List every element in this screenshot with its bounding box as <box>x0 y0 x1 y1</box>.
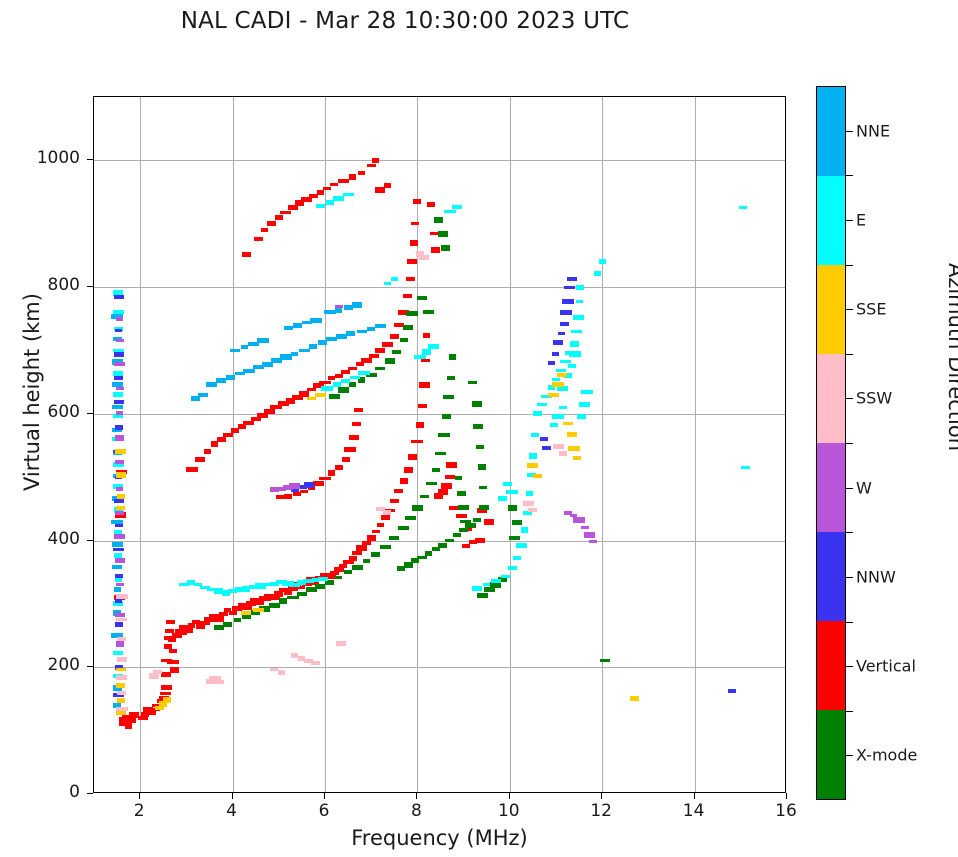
data-point <box>334 567 344 572</box>
data-point <box>211 441 218 447</box>
data-point <box>284 494 292 499</box>
data-point <box>112 405 123 409</box>
y-axis-tick <box>87 666 93 667</box>
data-point <box>508 566 517 570</box>
data-point <box>318 340 327 345</box>
data-point <box>550 423 558 427</box>
data-point <box>567 277 577 281</box>
data-point <box>317 190 324 195</box>
data-point <box>428 344 439 349</box>
data-point <box>445 475 455 479</box>
data-point <box>579 402 590 407</box>
data-point <box>358 371 370 375</box>
data-point <box>526 491 533 496</box>
data-point <box>114 400 124 404</box>
data-point <box>279 598 287 604</box>
data-point <box>548 393 559 397</box>
data-point <box>372 158 379 163</box>
data-point <box>449 354 456 360</box>
data-point <box>469 540 477 544</box>
data-point <box>576 300 583 303</box>
colorbar-tick <box>846 755 853 756</box>
data-point <box>115 435 124 441</box>
data-point <box>391 277 398 281</box>
data-point <box>457 491 466 496</box>
data-point <box>484 519 494 525</box>
data-point <box>383 510 391 515</box>
colorbar-tick <box>846 666 853 667</box>
colorbar-band-sse <box>817 265 845 354</box>
data-point <box>214 625 224 630</box>
data-point <box>375 348 385 353</box>
data-point <box>506 490 518 494</box>
data-point <box>112 565 122 569</box>
data-point <box>169 649 177 653</box>
data-point <box>394 489 403 493</box>
data-point <box>564 286 575 289</box>
data-point <box>346 331 355 336</box>
data-point <box>352 302 362 308</box>
data-point <box>594 271 601 276</box>
data-point <box>307 388 316 391</box>
data-point <box>410 240 418 246</box>
data-point <box>553 340 563 345</box>
data-point <box>267 221 276 226</box>
data-point <box>117 657 127 662</box>
data-point <box>299 391 309 397</box>
data-point <box>186 467 198 472</box>
data-point <box>113 548 124 551</box>
data-point <box>397 566 405 571</box>
data-point <box>367 535 376 541</box>
colorbar-tick <box>846 577 853 578</box>
y-axis-tick-label: 0 <box>20 782 80 802</box>
x-axis-tick <box>509 793 510 799</box>
data-point <box>114 376 123 380</box>
data-point <box>390 334 399 339</box>
x-axis-tick-label: 10 <box>479 801 539 821</box>
data-point <box>553 444 564 449</box>
colorbar-label-w: W <box>856 478 872 497</box>
data-point <box>741 466 750 469</box>
data-point <box>503 482 512 486</box>
data-point <box>287 596 299 599</box>
data-point <box>117 691 126 695</box>
colorbar <box>816 86 846 800</box>
data-point <box>584 532 595 538</box>
data-point <box>406 277 415 281</box>
data-point <box>226 375 235 380</box>
data-point <box>280 211 291 214</box>
data-point <box>204 449 211 454</box>
data-point <box>113 651 123 655</box>
data-point <box>116 339 124 342</box>
data-point <box>569 351 581 357</box>
data-point <box>335 576 342 579</box>
colorbar-band-vertical <box>817 621 845 710</box>
data-point <box>316 204 325 208</box>
data-point <box>405 516 416 520</box>
data-point <box>115 622 123 627</box>
colorbar-band-ssw <box>817 354 845 443</box>
data-point <box>540 437 548 441</box>
data-point <box>441 483 452 489</box>
data-point <box>191 396 200 401</box>
data-point <box>445 539 454 542</box>
data-point <box>421 359 430 362</box>
data-point <box>531 433 539 437</box>
data-point <box>341 379 350 383</box>
data-point <box>375 367 385 370</box>
data-point <box>563 422 573 425</box>
x-axis-label: Frequency (MHz) <box>93 826 786 850</box>
data-point <box>452 205 462 209</box>
data-point <box>113 414 123 418</box>
data-point <box>216 378 226 383</box>
data-point <box>254 237 263 241</box>
data-point <box>398 526 409 530</box>
data-point <box>508 505 517 511</box>
data-point <box>581 390 593 394</box>
data-point <box>446 462 457 468</box>
data-point <box>562 299 574 304</box>
data-point <box>400 338 408 342</box>
data-point <box>573 456 581 460</box>
data-point <box>367 164 376 167</box>
data-point <box>188 623 195 628</box>
data-point <box>459 528 468 532</box>
data-point <box>311 661 320 665</box>
data-point <box>116 506 125 510</box>
x-axis-tick-label: 12 <box>571 801 631 821</box>
data-point <box>577 414 586 419</box>
data-point <box>570 514 577 517</box>
data-point <box>349 556 357 561</box>
data-point <box>324 310 336 314</box>
data-point <box>423 333 430 338</box>
data-point <box>599 259 606 264</box>
data-point <box>291 352 298 356</box>
colorbar-boundary-tick <box>846 354 853 355</box>
colorbar-tick <box>846 398 853 399</box>
data-point <box>352 565 363 570</box>
data-point <box>382 342 393 347</box>
data-point <box>219 612 228 616</box>
data-point <box>438 489 448 495</box>
data-point <box>289 483 300 489</box>
y-axis-tick-label: 1000 <box>20 148 80 168</box>
plot-area <box>93 96 786 793</box>
data-point <box>323 187 331 190</box>
data-point <box>116 317 123 321</box>
data-point <box>241 611 251 615</box>
data-point <box>419 255 429 260</box>
data-point <box>242 252 251 257</box>
colorbar-label-x-mode: X-mode <box>856 746 917 765</box>
data-point <box>161 672 171 677</box>
data-point <box>166 620 175 624</box>
data-point <box>335 465 343 470</box>
data-point <box>307 397 316 400</box>
data-point <box>392 350 401 354</box>
data-point <box>242 615 251 619</box>
data-point <box>269 603 280 608</box>
data-point <box>501 575 510 578</box>
data-point <box>309 344 317 349</box>
data-point <box>512 520 522 525</box>
colorbar-band-nnw <box>817 532 845 621</box>
scatter-points-layer <box>94 97 785 792</box>
data-point <box>223 622 232 627</box>
data-point <box>145 711 156 715</box>
data-point <box>478 464 486 470</box>
data-point <box>112 542 123 547</box>
data-point <box>165 629 174 633</box>
data-point <box>333 196 344 201</box>
data-point <box>115 449 126 454</box>
data-point <box>335 307 342 313</box>
data-point <box>253 608 264 612</box>
data-point <box>349 174 356 180</box>
data-point <box>418 404 427 408</box>
data-point <box>325 580 334 585</box>
data-point <box>465 523 476 528</box>
x-axis-tick-label: 8 <box>386 801 446 821</box>
data-point <box>280 354 292 360</box>
data-point <box>529 453 537 459</box>
x-axis-tick <box>601 793 602 799</box>
data-point <box>573 517 585 523</box>
colorbar-tick <box>846 488 853 489</box>
colorbar-label-nne: NNE <box>856 121 890 140</box>
data-point <box>195 457 205 462</box>
data-point <box>375 324 386 328</box>
data-point <box>319 381 331 384</box>
data-point <box>113 371 123 376</box>
data-point <box>116 583 124 586</box>
data-point <box>473 518 481 522</box>
data-point <box>116 683 125 688</box>
colorbar-boundary-tick <box>846 443 853 444</box>
data-point <box>447 376 455 380</box>
data-point <box>304 482 314 488</box>
data-point <box>426 482 437 485</box>
data-point <box>483 583 490 586</box>
data-point <box>571 330 582 333</box>
data-point <box>350 376 360 379</box>
y-axis-tick <box>87 286 93 287</box>
x-axis-tick <box>694 793 695 799</box>
data-point <box>413 199 421 204</box>
data-point <box>390 499 399 503</box>
data-point <box>344 305 353 310</box>
data-point <box>384 282 391 285</box>
data-point <box>161 685 172 690</box>
data-point <box>381 515 390 520</box>
data-point <box>330 183 338 186</box>
data-point <box>310 318 322 323</box>
data-point <box>552 414 564 419</box>
data-point <box>339 564 347 568</box>
data-point <box>116 594 128 599</box>
data-point <box>341 370 350 374</box>
data-point <box>234 618 241 622</box>
data-point <box>527 463 538 468</box>
data-point <box>115 558 125 563</box>
y-axis-tick <box>87 159 93 160</box>
data-point <box>380 545 391 549</box>
data-point <box>427 202 435 207</box>
y-axis-tick-label: 400 <box>20 529 80 549</box>
data-point <box>444 210 456 213</box>
data-point <box>533 411 542 416</box>
data-point <box>117 637 126 641</box>
data-point <box>560 322 569 326</box>
data-point <box>329 394 340 399</box>
data-point <box>371 552 380 557</box>
data-point <box>333 382 341 387</box>
colorbar-band-w <box>817 443 845 532</box>
data-point <box>516 543 527 548</box>
data-point <box>559 406 567 409</box>
data-point <box>116 472 126 478</box>
data-point <box>344 447 356 452</box>
data-point <box>537 403 547 406</box>
x-axis-tick <box>786 793 787 799</box>
data-point <box>432 468 440 472</box>
data-point <box>115 599 122 603</box>
data-point <box>430 232 438 235</box>
data-point <box>184 628 193 633</box>
y-axis-tick-label: 200 <box>20 655 80 675</box>
data-point <box>404 467 413 473</box>
data-point <box>513 556 521 560</box>
data-point <box>275 215 283 220</box>
data-point <box>116 710 126 715</box>
y-axis-tick <box>87 540 93 541</box>
data-point <box>558 332 565 335</box>
data-point <box>243 369 255 373</box>
data-point <box>343 193 354 196</box>
data-point <box>372 530 380 533</box>
data-point <box>542 446 551 450</box>
data-point <box>114 352 124 357</box>
data-point <box>114 534 125 539</box>
data-point <box>414 355 426 359</box>
x-axis-tick-label: 16 <box>756 801 816 821</box>
data-point <box>338 387 349 393</box>
data-point <box>423 310 434 314</box>
data-point <box>301 197 312 202</box>
colorbar-label: Azimuth Direction <box>944 237 958 477</box>
data-point <box>462 544 470 548</box>
data-point <box>116 668 126 671</box>
data-point <box>362 541 371 545</box>
colorbar-band-e <box>817 176 845 265</box>
data-point <box>319 477 331 480</box>
data-point <box>581 526 589 529</box>
data-point <box>284 326 293 330</box>
data-point <box>153 670 162 674</box>
data-point <box>468 381 477 384</box>
x-axis-tick <box>139 793 140 799</box>
data-point <box>116 675 127 680</box>
colorbar-boundary-tick <box>846 622 853 623</box>
data-point <box>214 680 224 684</box>
data-point <box>299 349 310 352</box>
data-point <box>241 345 248 349</box>
data-point <box>114 587 121 592</box>
data-point <box>318 577 328 581</box>
data-point <box>477 593 488 598</box>
y-axis-label: Virtual height (km) <box>20 262 44 522</box>
data-point <box>570 341 579 347</box>
data-point <box>313 481 324 486</box>
data-point <box>552 352 559 356</box>
data-point <box>385 358 395 364</box>
data-point <box>342 457 350 462</box>
data-point <box>416 422 424 428</box>
data-point <box>344 570 352 574</box>
data-point <box>407 259 417 264</box>
data-point <box>411 440 423 443</box>
colorbar-band-nne <box>817 87 845 176</box>
data-point <box>552 378 560 381</box>
data-point <box>443 395 454 399</box>
data-point <box>356 545 367 551</box>
data-point <box>358 171 365 175</box>
data-point <box>403 294 412 298</box>
x-axis-tick-label: 14 <box>664 801 724 821</box>
data-point <box>348 367 357 370</box>
data-point <box>456 514 467 518</box>
colorbar-band-x-mode <box>817 710 845 799</box>
data-point <box>369 354 379 358</box>
data-point <box>238 424 246 429</box>
data-point <box>167 660 179 664</box>
data-point <box>328 470 335 476</box>
data-point <box>389 536 399 540</box>
data-point <box>114 295 124 299</box>
data-point <box>115 524 123 527</box>
data-point <box>113 392 123 397</box>
data-point <box>528 508 537 512</box>
data-point <box>116 487 123 491</box>
data-point <box>335 374 343 378</box>
data-point <box>434 217 443 223</box>
data-point <box>300 490 308 493</box>
data-point <box>352 422 361 426</box>
data-point <box>441 245 450 251</box>
data-point <box>349 382 356 387</box>
colorbar-label-sse: SSE <box>856 300 886 319</box>
data-point <box>438 433 450 437</box>
data-point <box>521 527 528 533</box>
data-point <box>116 707 128 711</box>
data-point <box>453 533 461 537</box>
x-axis-tick-label: 4 <box>202 801 262 821</box>
data-point <box>264 409 275 414</box>
x-axis-tick-label: 6 <box>294 801 354 821</box>
data-point <box>431 247 440 253</box>
data-point <box>230 349 240 352</box>
data-point <box>568 446 580 451</box>
data-point <box>567 432 577 437</box>
x-axis-tick <box>324 793 325 799</box>
data-point <box>435 452 446 455</box>
data-point <box>115 425 123 430</box>
data-point <box>442 414 451 419</box>
